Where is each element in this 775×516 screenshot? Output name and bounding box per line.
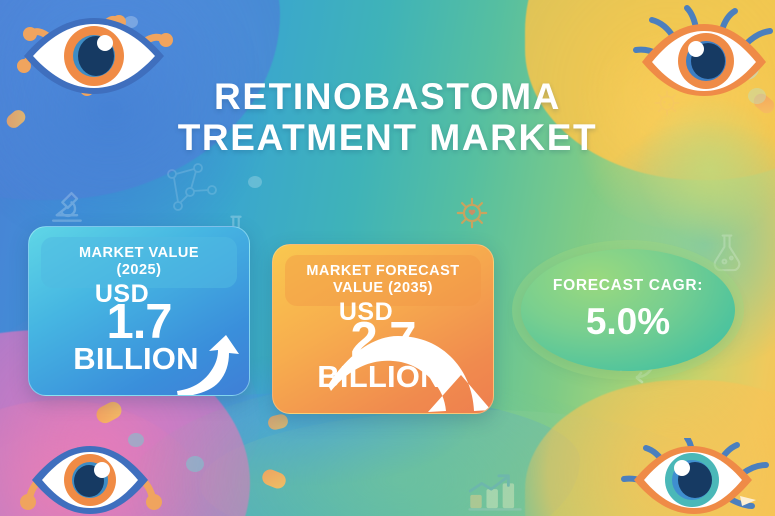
title-line-1: RETINOBASTOMA <box>214 76 561 117</box>
page-title: RETINOBASTOMA TREATMENT MARKET <box>0 76 775 159</box>
eye-icon-bottom-left <box>10 440 170 516</box>
growth-arrow-icon-blue <box>175 335 247 396</box>
market-value-card-header-line1: MARKET VALUE <box>79 245 199 261</box>
forecast-cagr-value: 5.0% <box>586 301 670 343</box>
market-forecast-card[interactable]: MARKET FORECAST VALUE (2035) USD 2.7 BIL… <box>272 244 494 414</box>
infographic-canvas: RETINOBASTOMA TREATMENT MARKET MARKET VA… <box>0 0 775 516</box>
market-value-card-header-line2: (2025) <box>117 262 162 278</box>
market-forecast-card-header-line1: MARKET FORECAST <box>306 263 459 279</box>
forecast-cagr-label: FORECAST CAGR: <box>553 277 703 295</box>
eye-icon-bottom-right <box>620 438 770 516</box>
market-value-card[interactable]: MARKET VALUE (2025) USD 1.7 BILLION <box>28 226 250 396</box>
bar-chart-growth-icon <box>466 472 526 512</box>
growth-arrow-icon-orange <box>325 297 493 414</box>
bubble-dot-6 <box>248 176 262 188</box>
title-line-2: TREATMENT MARKET <box>0 117 775 158</box>
molecule-icon <box>160 160 220 216</box>
market-forecast-card-header-line2: VALUE (2035) <box>333 280 433 296</box>
forecast-cagr-circle[interactable]: FORECAST CAGR: 5.0% <box>521 249 735 371</box>
microscope-icon <box>44 184 88 228</box>
bubble-dot-2 <box>186 456 204 472</box>
